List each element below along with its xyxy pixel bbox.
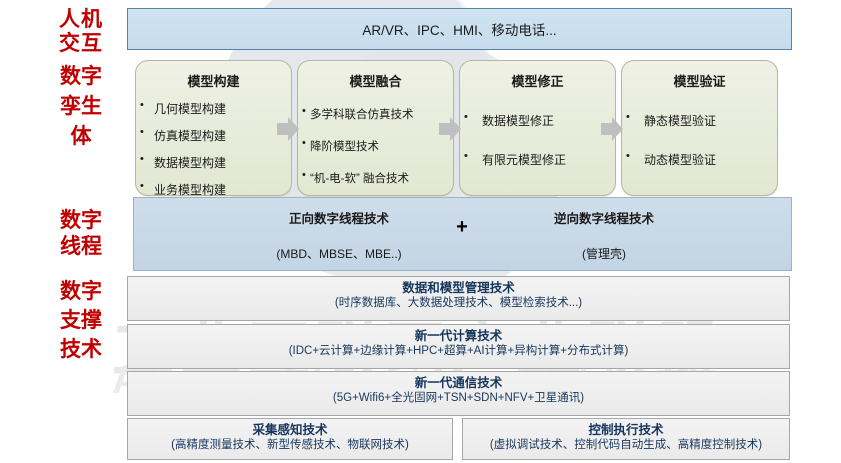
twin-box-item-list: 多学科联合仿真技术降阶模型技术“机-电-软” 融合技术 <box>298 106 453 186</box>
twin-box-item-list: 几何模型构建仿真模型构建数据模型构建业务模型构建 <box>136 100 291 198</box>
support-box-title: 新一代通信技术 <box>128 376 789 390</box>
hmi-banner: AR/VR、IPC、HMI、移动电话... <box>127 8 792 50</box>
twin-box-list-item: 数据模型构建 <box>136 154 291 171</box>
twin-box-list-item: 有限元模型修正 <box>460 151 615 168</box>
support-box-title: 数据和模型管理技术 <box>128 281 789 295</box>
twin-box-list-item: 几何模型构建 <box>136 100 291 117</box>
twin-box-list-item: 静态模型验证 <box>622 112 777 129</box>
twin-box-list-item: 数据模型修正 <box>460 112 615 129</box>
hmi-banner-text: AR/VR、IPC、HMI、移动电话... <box>362 19 556 39</box>
sidebar-label-hmi: 人机交互 <box>45 8 117 55</box>
flow-arrow-icon <box>277 117 299 141</box>
thread-forward-group: 正向数字线程技术 (MBD、MBSE、MBE..) <box>214 208 464 262</box>
twin-box-title: 模型验证 <box>622 71 777 90</box>
support-box-control[interactable]: 控制执行技术 (虚拟调试技术、控制代码自动生成、高精度控制技术) <box>462 418 790 460</box>
thread-forward-title: 正向数字线程技术 <box>214 208 464 227</box>
twin-box-list-item: 业务模型构建 <box>136 181 291 198</box>
thread-reverse-group: 逆向数字线程技术 (管理壳) <box>464 208 744 262</box>
thread-reverse-title: 逆向数字线程技术 <box>464 208 744 227</box>
support-box-title: 新一代计算技术 <box>128 329 789 343</box>
twin-box-title: 模型修正 <box>460 71 615 90</box>
flow-arrow-icon <box>601 117 623 141</box>
support-box-title: 采集感知技术 <box>128 423 452 437</box>
support-box-subtitle: (IDC+云计算+边缘计算+HPC+超算+AI计算+异构计算+分布式计算) <box>128 345 789 358</box>
support-box-data-management[interactable]: 数据和模型管理技术 (时序数据库、大数据处理技术、模型检索技术...) <box>127 276 790 321</box>
thread-reverse-subtitle: (管理壳) <box>464 245 744 262</box>
support-box-title: 控制执行技术 <box>463 423 789 437</box>
thread-forward-subtitle: (MBD、MBSE、MBE..) <box>214 245 464 262</box>
sidebar-label-digital-thread: 数字线程 <box>45 208 117 259</box>
support-box-subtitle: (5G+Wifi6+全光固网+TSN+SDN+NFV+卫星通讯) <box>128 392 789 405</box>
twin-box-list-item: 多学科联合仿真技术 <box>298 106 453 122</box>
twin-box-model-correction[interactable]: 模型修正 数据模型修正有限元模型修正 <box>459 60 616 196</box>
twin-box-title: 模型融合 <box>298 71 453 90</box>
diagram-canvas: 工业互联网产业联盟 Alliance of Industrial Interne… <box>0 0 841 463</box>
flow-arrow-icon <box>439 117 461 141</box>
sidebar-label-digital-twin: 数字孪生体 <box>45 62 117 151</box>
sidebar-label-digital-support: 数字支撑技术 <box>45 278 117 365</box>
twin-box-model-construction[interactable]: 模型构建 几何模型构建仿真模型构建数据模型构建业务模型构建 <box>135 60 292 196</box>
twin-box-list-item: 仿真模型构建 <box>136 127 291 144</box>
support-box-sensing[interactable]: 采集感知技术 (高精度测量技术、新型传感技术、物联网技术) <box>127 418 453 460</box>
twin-box-item-list: 静态模型验证动态模型验证 <box>622 112 777 168</box>
twin-box-list-item: “机-电-软” 融合技术 <box>298 170 453 186</box>
support-box-communication[interactable]: 新一代通信技术 (5G+Wifi6+全光固网+TSN+SDN+NFV+卫星通讯) <box>127 371 790 416</box>
support-box-subtitle: (高精度测量技术、新型传感技术、物联网技术) <box>128 439 452 452</box>
support-box-subtitle: (虚拟调试技术、控制代码自动生成、高精度控制技术) <box>463 439 789 452</box>
twin-box-item-list: 数据模型修正有限元模型修正 <box>460 112 615 168</box>
twin-box-list-item: 降阶模型技术 <box>298 138 453 154</box>
digital-thread-panel: 正向数字线程技术 (MBD、MBSE、MBE..) + 逆向数字线程技术 (管理… <box>133 197 792 271</box>
twin-box-title: 模型构建 <box>136 71 291 90</box>
support-box-subtitle: (时序数据库、大数据处理技术、模型检索技术...) <box>128 297 789 310</box>
twin-box-list-item: 动态模型验证 <box>622 151 777 168</box>
twin-box-model-fusion[interactable]: 模型融合 多学科联合仿真技术降阶模型技术“机-电-软” 融合技术 <box>297 60 454 196</box>
support-box-computing[interactable]: 新一代计算技术 (IDC+云计算+边缘计算+HPC+超算+AI计算+异构计算+分… <box>127 324 790 369</box>
twin-box-model-validation[interactable]: 模型验证 静态模型验证动态模型验证 <box>621 60 778 196</box>
